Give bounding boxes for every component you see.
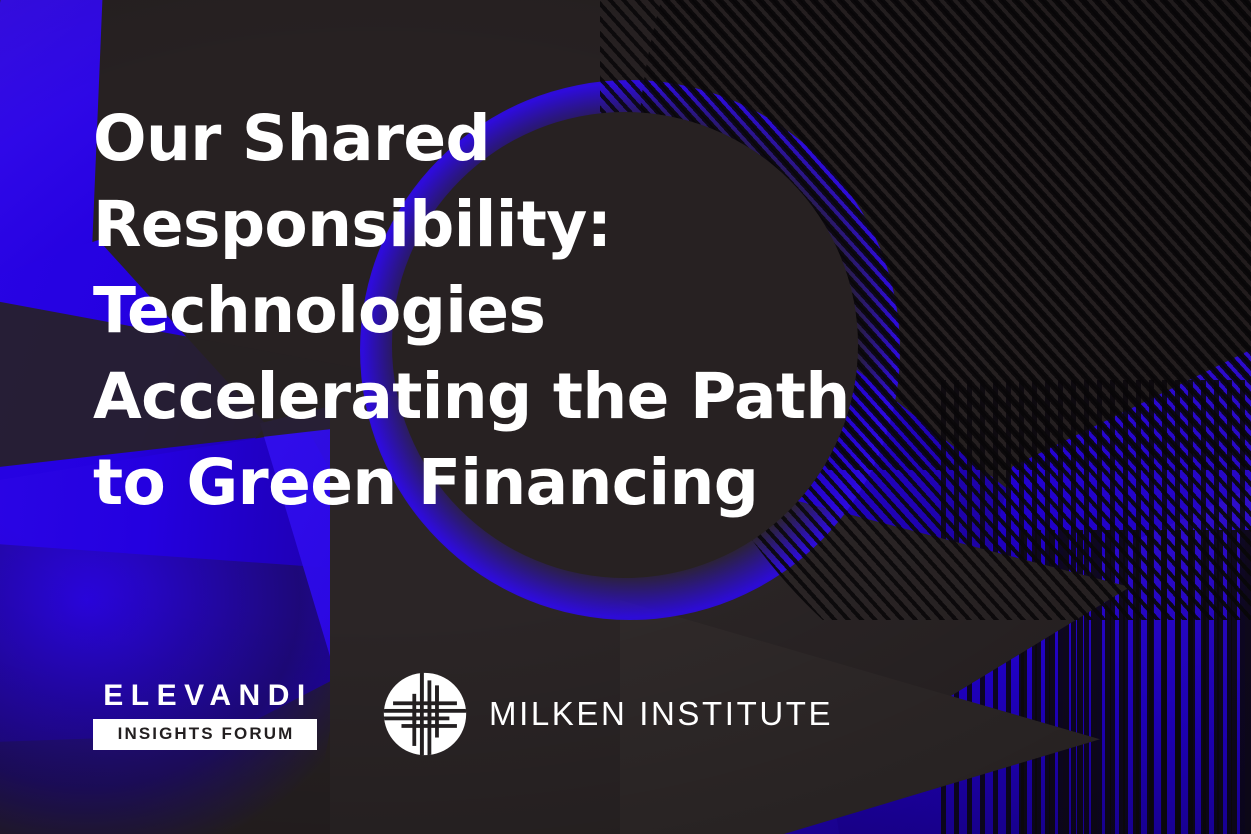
elevandi-logo: ELEVANDI INSIGHTS FORUM <box>93 679 317 750</box>
poster-content: Our Shared Responsibility: Technologies … <box>0 0 1251 834</box>
elevandi-insights-forum-badge: INSIGHTS FORUM <box>93 719 317 750</box>
logo-row: ELEVANDI INSIGHTS FORUM <box>93 672 833 756</box>
milken-circle-lattice-icon <box>383 672 467 756</box>
elevandi-wordmark: ELEVANDI <box>93 679 317 713</box>
title-line-4: Accelerating the Path <box>93 354 953 440</box>
milken-wordmark: MILKEN INSTITUTE <box>489 695 833 733</box>
title-line-1: Our Shared <box>93 96 953 182</box>
title-line-5: to Green Financing <box>93 440 953 526</box>
milken-institute-logo: MILKEN INSTITUTE <box>383 672 833 756</box>
title-line-2: Responsibility: <box>93 182 953 268</box>
title-line-3: Technologies <box>93 268 953 354</box>
poster-canvas: Our Shared Responsibility: Technologies … <box>0 0 1251 834</box>
page-title: Our Shared Responsibility: Technologies … <box>93 96 953 526</box>
